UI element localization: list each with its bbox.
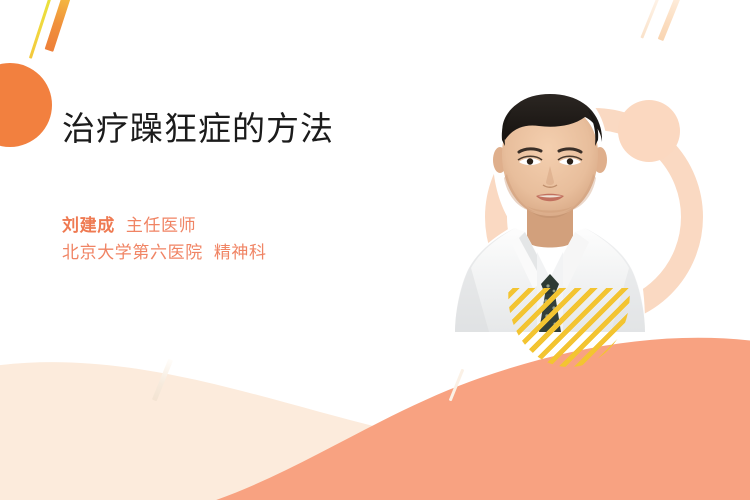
- cream-slash-icon-small: [449, 369, 465, 402]
- doctor-rank: 主任医师: [126, 216, 196, 235]
- text-block: 治疗躁狂症的方法 刘建成主任医师 北京大学第六医院精神科: [62, 108, 442, 266]
- doctor-portrait-svg: [455, 82, 645, 332]
- doctor-name-line: 刘建成主任医师: [62, 213, 442, 239]
- doctor-name: 刘建成: [62, 216, 115, 235]
- peach-slash-icon-thin: [640, 0, 662, 39]
- wave-salmon-secondary-path: [330, 351, 750, 500]
- doctor-department: 精神科: [214, 243, 267, 262]
- doctor-hospital: 北京大学第六医院: [62, 243, 203, 262]
- doctor-info-card: 治疗躁狂症的方法 刘建成主任医师 北京大学第六医院精神科: [0, 0, 750, 500]
- wave-salmon-main-path: [150, 338, 750, 500]
- wave-salmon-secondary-svg: [330, 340, 750, 500]
- yellow-slash-icon: [29, 0, 52, 59]
- doctor-portrait: [455, 82, 645, 332]
- wave-salmon-main-svg: [150, 300, 750, 500]
- orange-slash-icon: [45, 0, 73, 52]
- wave-salmon-secondary: [330, 340, 750, 500]
- page-title: 治疗躁狂症的方法: [62, 108, 442, 149]
- doctor-credentials: 刘建成主任医师 北京大学第六医院精神科: [62, 213, 442, 266]
- doctor-affiliation-line: 北京大学第六医院精神科: [62, 240, 442, 266]
- peach-slash-icon-thick: [658, 0, 685, 41]
- wave-salmon-main: [150, 300, 750, 500]
- wave-light-path: [0, 362, 750, 500]
- cream-slash-icon: [152, 359, 173, 402]
- orange-circle-icon: [0, 63, 52, 147]
